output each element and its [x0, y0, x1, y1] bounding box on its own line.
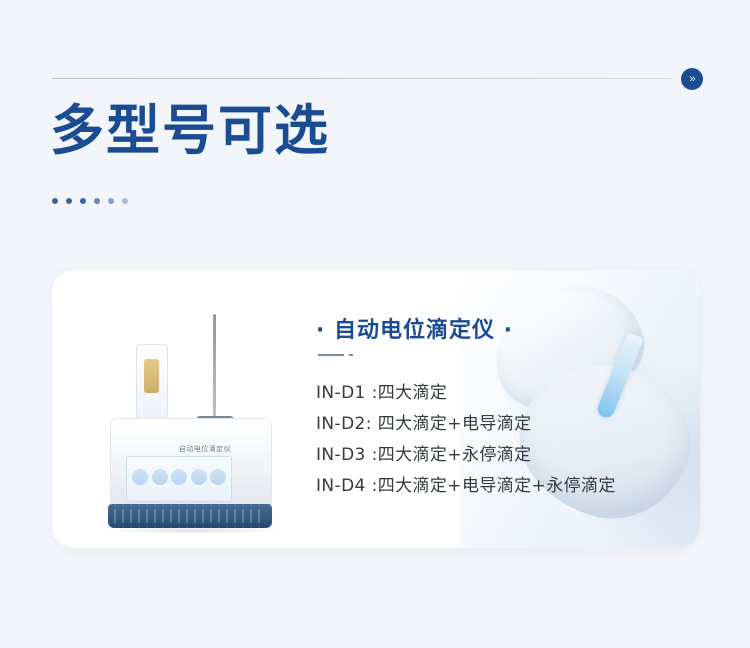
screen-key [210, 469, 226, 485]
card-title: · 自动电位滴定仪 · [316, 312, 513, 344]
screen-key [191, 469, 207, 485]
product-device-image: 自动电位滴定仪 [100, 284, 310, 534]
device-electrode-rod [213, 314, 216, 416]
list-item: IN-D2: 四大滴定+电导滴定 [316, 409, 686, 440]
decorative-dots [52, 198, 128, 204]
device-panel-label: 自动电位滴定仪 [100, 444, 310, 454]
device-burette-column [136, 344, 168, 420]
double-chevron-right-icon[interactable]: » [681, 68, 703, 90]
model-list: IN-D1 :四大滴定 IN-D2: 四大滴定+电导滴定 IN-D3 :四大滴定… [316, 378, 686, 502]
product-card: 自动电位滴定仪 · 自动电位滴定仪 · IN-D1 :四大滴定 IN-D2: 四… [52, 270, 700, 548]
page-title: 多型号可选 [50, 100, 330, 162]
dot [108, 198, 114, 204]
title-underline [318, 354, 344, 356]
list-item: IN-D3 :四大滴定+永停滴定 [316, 440, 686, 471]
device-base [108, 504, 272, 528]
device-shadow [100, 527, 286, 534]
dot [94, 198, 100, 204]
dot [66, 198, 72, 204]
dot [52, 198, 58, 204]
screen-key [132, 469, 148, 485]
device-reagent-window [144, 359, 159, 393]
device-touch-screen [126, 456, 232, 502]
header-divider [52, 78, 672, 79]
screen-key [152, 469, 168, 485]
list-item: IN-D4 :四大滴定+电导滴定+永停滴定 [316, 471, 686, 502]
list-item: IN-D1 :四大滴定 [316, 378, 686, 409]
dot [122, 198, 128, 204]
dot [80, 198, 86, 204]
screen-key [171, 469, 187, 485]
